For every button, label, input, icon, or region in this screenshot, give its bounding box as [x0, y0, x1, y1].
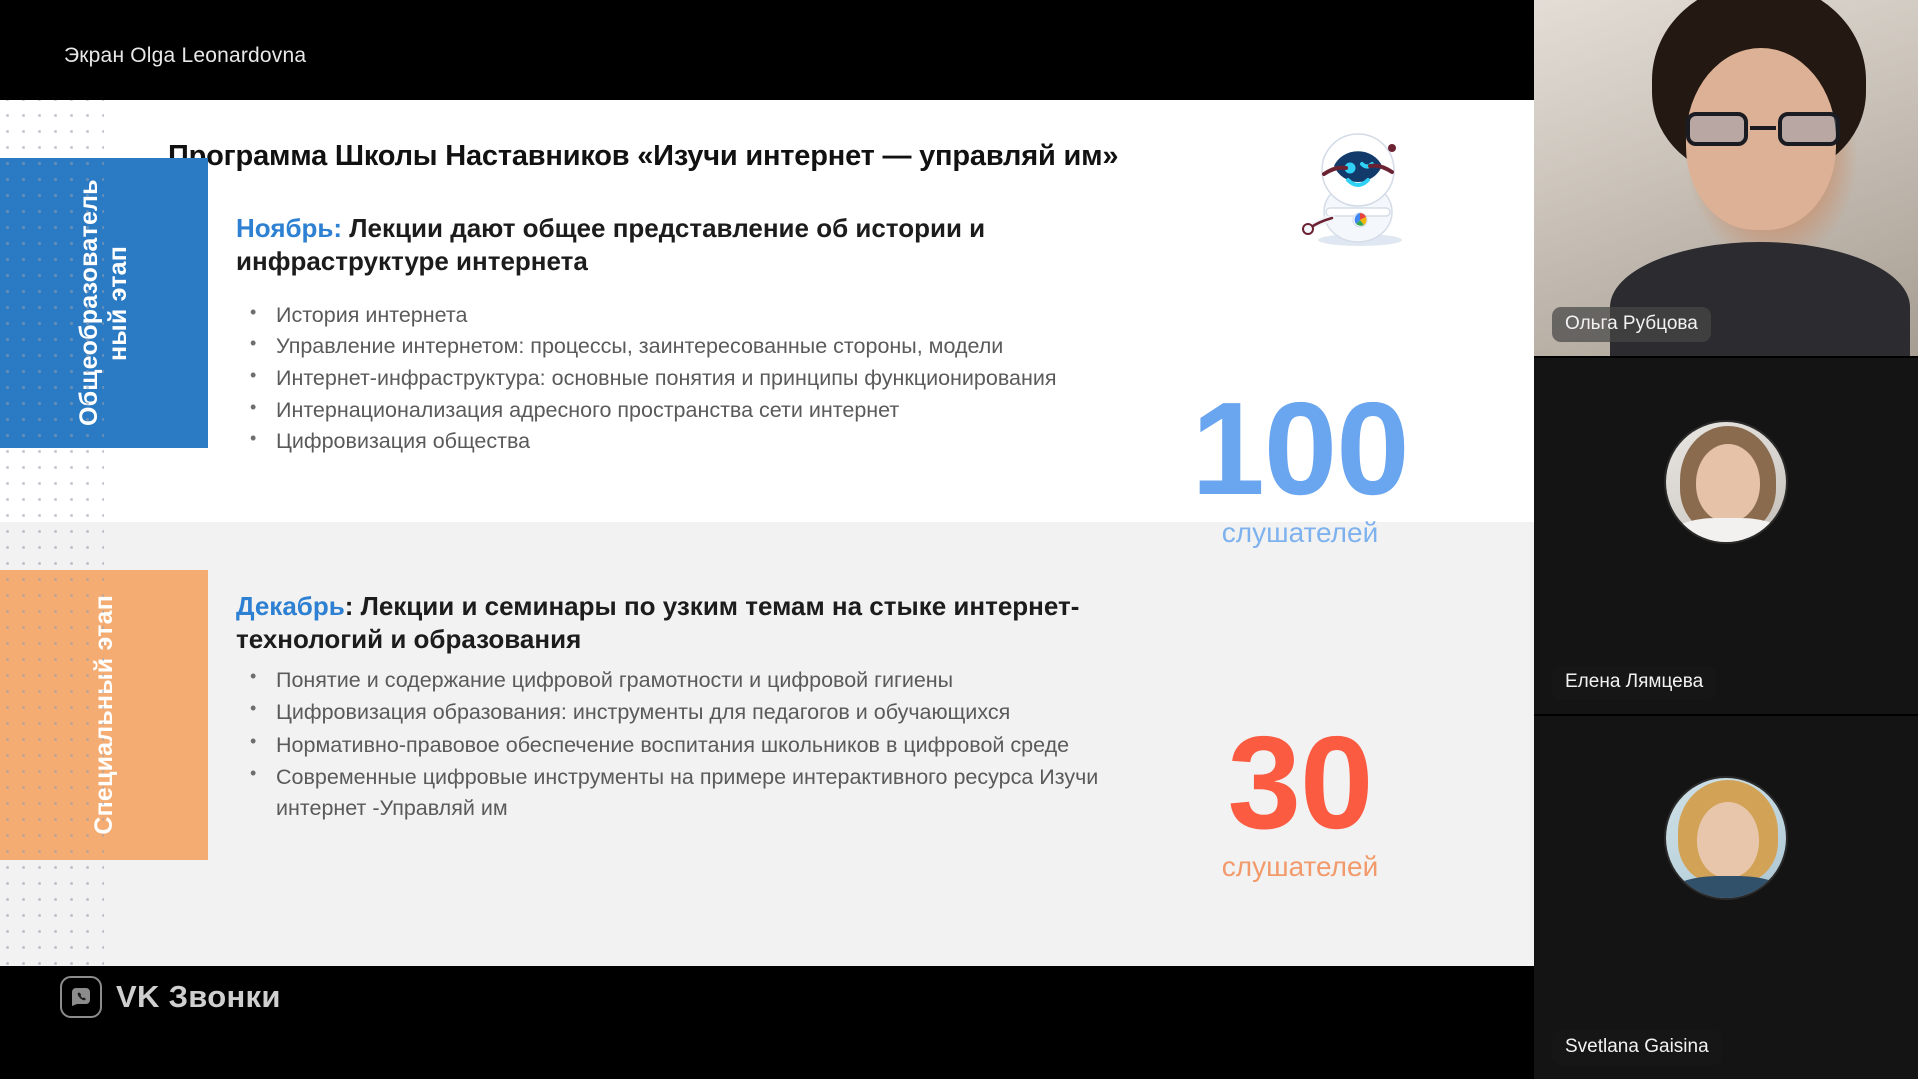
avatar-face: [1696, 444, 1760, 522]
counter-november: 100 слушателей: [1150, 386, 1450, 549]
vk-calls-watermark: VK Звонки: [60, 976, 281, 1018]
section-november: Ноябрь: Лекции дают общее представление …: [236, 212, 1296, 459]
stage-chip-special: Специальный этап: [0, 570, 208, 860]
section-december-month: Декабрь: [236, 591, 345, 621]
stage-chip-general-label: Общеобразователь ный этап: [75, 178, 133, 428]
avatar: [1664, 776, 1788, 900]
stage-chip-special-label: Специальный этап: [90, 595, 119, 835]
screen-share-title: Экран Olga Leonardovna: [64, 44, 306, 68]
participant-tile-olga-rubtsova[interactable]: Ольга Рубцова: [1534, 0, 1918, 356]
counter-december: 30 слушателей: [1150, 720, 1450, 883]
list-item: Понятие и содержание цифровой грамотност…: [236, 665, 1116, 696]
participant-tile-svetlana-gaisina[interactable]: Svetlana Gaisina: [1534, 716, 1918, 1079]
list-item: Интернационализация адресного пространст…: [236, 396, 1116, 426]
counter-november-caption: слушателей: [1150, 517, 1450, 549]
list-item: Нормативно-правовое обеспечение воспитан…: [236, 730, 1116, 761]
section-november-heading: Ноябрь: Лекции дают общее представление …: [236, 212, 1136, 279]
vk-calls-window: Экран Olga Leonardovna Общеобразователь …: [0, 0, 1918, 1079]
counter-december-number: 30: [1150, 720, 1450, 845]
screen-share-pane: Экран Olga Leonardovna Общеобразователь …: [0, 0, 1534, 1079]
list-item: Цифровизация общества: [236, 427, 1116, 457]
list-item: Цифровизация образования: инструменты дл…: [236, 697, 1116, 728]
list-item: Интернет-инфраструктура: основные поняти…: [236, 364, 1116, 394]
participant-video-feed: [1666, 422, 1786, 542]
slide-title: Программа Школы Наставников «Изучи интер…: [168, 140, 1288, 173]
stage-chip-general: Общеобразователь ный этап: [0, 158, 208, 448]
screen-share-header: Экран Olga Leonardovna: [0, 0, 1534, 100]
robot-mascot-icon: [1288, 112, 1428, 252]
glasses-icon: [1684, 112, 1842, 146]
counter-november-number: 100: [1150, 386, 1450, 511]
section-december-heading: Декабрь: Лекции и семинары по узким тема…: [236, 590, 1136, 657]
section-december-bullets: Понятие и содержание цифровой грамотност…: [236, 665, 1116, 824]
counter-december-caption: слушателей: [1150, 851, 1450, 883]
participant-video-feed: [1534, 0, 1918, 356]
list-item: Современные цифровые инструменты на прим…: [236, 762, 1116, 823]
presentation-slide: Общеобразователь ный этап Специальный эт…: [0, 100, 1534, 966]
section-november-month: Ноябрь:: [236, 213, 342, 243]
list-item: История интернета: [236, 301, 1116, 331]
avatar-torso: [1670, 876, 1786, 900]
list-item: Управление интернетом: процессы, заинтер…: [236, 332, 1116, 362]
section-november-heading-text: Лекции дают общее представление об истор…: [236, 213, 985, 276]
participant-name-badge: Svetlana Gaisina: [1552, 1030, 1722, 1065]
vk-calls-watermark-label: VK Звонки: [116, 979, 281, 1015]
participant-name-badge: Ольга Рубцова: [1552, 307, 1711, 342]
avatar-torso: [1672, 518, 1784, 544]
avatar-face: [1697, 802, 1759, 878]
participant-video-feed: [1666, 778, 1786, 898]
section-december-heading-text: : Лекции и семинары по узким темам на ст…: [236, 591, 1079, 654]
vk-calls-phone-icon: [60, 976, 102, 1018]
participant-tile-elena-lyamtseva[interactable]: Елена Лямцева: [1534, 358, 1918, 714]
section-november-bullets: История интернета Управление интернетом:…: [236, 301, 1116, 457]
section-december: Декабрь: Лекции и семинары по узким тема…: [236, 590, 1296, 825]
participant-filmstrip: Ольга Рубцова Елена Лямцева Svetlana: [1534, 0, 1918, 1079]
participant-name-badge: Елена Лямцева: [1552, 665, 1716, 700]
avatar: [1664, 420, 1788, 544]
